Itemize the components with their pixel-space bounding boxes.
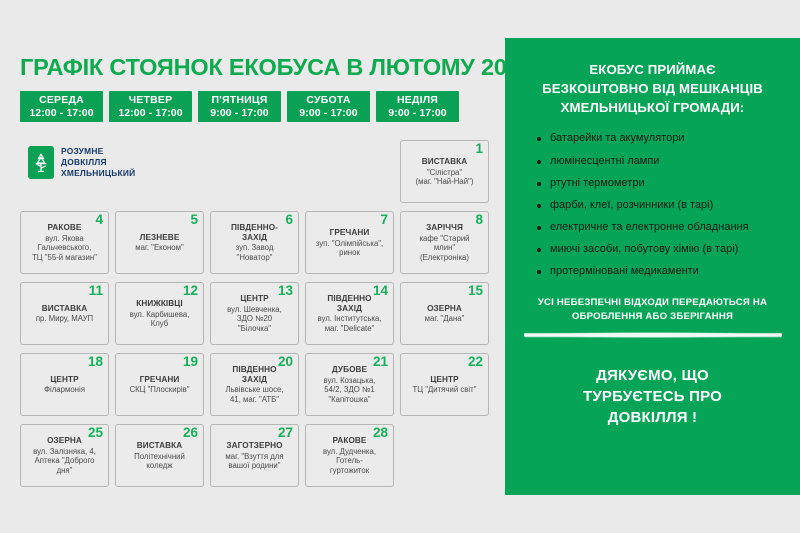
brush-divider xyxy=(524,331,782,339)
accepted-waste-item: протерміновані медикаменти xyxy=(537,264,782,280)
stop-card-cell: 6ПІВДЕННО-ЗАХІДзуп. Завод"Новатор" xyxy=(210,211,299,274)
day-header-5: НЕДІЛЯ9:00 - 17:00 xyxy=(376,91,459,122)
stop-card-place: ВИСТАВКА xyxy=(42,304,88,314)
stop-card-day-number: 28 xyxy=(373,426,388,440)
stop-card-address: вул. Залізняка, 4,Аптека "Доброгодня" xyxy=(33,447,96,476)
day-header-3: П'ЯТНИЦЯ9:00 - 17:00 xyxy=(198,91,281,122)
stop-card-address: вул. Дудченка,Готель-гуртожиток xyxy=(323,447,376,476)
empty-cell xyxy=(400,424,489,487)
accepted-waste-item: фарби, клеї, розчинники (в тарі) xyxy=(537,198,782,214)
stop-card-cell: 21ДУБОВЕвул. Козацька,54/2, ЗДО №1"Капіт… xyxy=(305,353,394,416)
stop-card[interactable]: 1ВИСТАВКА"Сілістра"(маг. "Най-Най") xyxy=(400,140,489,203)
stop-card-address: маг. "Економ" xyxy=(135,243,184,253)
stop-card-cell: 7ГРЕЧАНИзуп. "Олімпійська",ринок xyxy=(305,211,394,274)
stop-card[interactable]: 13ЦЕНТРвул. Шевченка,ЗДО №20"Білочка" xyxy=(210,282,299,345)
accepted-waste-item: миючі засоби, побутову хімію (в тарі) xyxy=(537,242,782,258)
day-header-1: СЕРЕДА12:00 - 17:00 xyxy=(20,91,103,122)
stop-card[interactable]: 12КНИЖКІВЦІвул. Карбишева,Клуб xyxy=(115,282,204,345)
stop-card[interactable]: 18ЦЕНТРФілармонія xyxy=(20,353,109,416)
day-name: СУБОТА xyxy=(306,94,350,106)
stop-card-place: ЦЕНТР xyxy=(240,294,268,304)
stop-card-day-number: 4 xyxy=(95,213,103,227)
stop-card[interactable]: 26ВИСТАВКАПолітехнічнийколедж xyxy=(115,424,204,487)
stop-card-cell: 11ВИСТАВКАпр. Миру, МАУП xyxy=(20,282,109,345)
empty-cell xyxy=(210,140,299,203)
stop-card-address: вул. ЯковаГальчевського,ТЦ "55-й магазин… xyxy=(32,234,97,263)
stop-card-day-number: 26 xyxy=(183,426,198,440)
stop-card-place: ВИСТАВКА xyxy=(422,157,468,167)
stop-card-day-number: 22 xyxy=(468,355,483,369)
stop-card-day-number: 25 xyxy=(88,426,103,440)
stop-card[interactable]: 27ЗАГОТЗЕРНОмаг. "Взуття длявашої родини… xyxy=(210,424,299,487)
stop-card[interactable]: 20ПІВДЕННОЗАХІДЛьвівське шосе,41, маг. "… xyxy=(210,353,299,416)
stop-card-cell: 22ЦЕНТРТЦ "Дитячий світ" xyxy=(400,353,489,416)
empty-cell xyxy=(115,140,204,203)
empty-cell xyxy=(305,140,394,203)
day-name: ЧЕТВЕР xyxy=(129,94,173,106)
stop-card[interactable]: 19ГРЕЧАНИСКЦ "Плоскирів" xyxy=(115,353,204,416)
stop-card-day-number: 21 xyxy=(373,355,388,369)
stop-card-address: Філармонія xyxy=(44,385,85,395)
stop-card[interactable]: 8ЗАРІЧЧЯкафе "Стариймлин"(Електроніка) xyxy=(400,211,489,274)
stop-card-cell: 13ЦЕНТРвул. Шевченка,ЗДО №20"Білочка" xyxy=(210,282,299,345)
stop-card-address: маг. "Дана" xyxy=(425,314,465,324)
stop-card-day-number: 20 xyxy=(278,355,293,369)
stop-card-address: пр. Миру, МАУП xyxy=(36,314,93,324)
stop-card-place: ОЗЕРНА xyxy=(47,436,82,446)
stop-card[interactable]: 4РАКОВЕвул. ЯковаГальчевського,ТЦ "55-й … xyxy=(20,211,109,274)
day-time: 9:00 - 17:00 xyxy=(388,107,446,119)
stop-card-place: ДУБОВЕ xyxy=(332,365,367,375)
day-time: 12:00 - 17:00 xyxy=(118,107,182,119)
stop-card-address: Львівське шосе,41, маг. "АТБ" xyxy=(225,385,283,404)
stop-card-day-number: 15 xyxy=(468,284,483,298)
accepted-waste-panel: ЕКОБУС ПРИЙМАЄБЕЗКОШТОВНО ВІД МЕШКАНЦІВХ… xyxy=(505,38,800,495)
stop-card-cell: 18ЦЕНТРФілармонія xyxy=(20,353,109,416)
day-time: 9:00 - 17:00 xyxy=(210,107,268,119)
stop-card-day-number: 14 xyxy=(373,284,388,298)
accepted-waste-list: батарейки та акумуляторилюмінесцентні ла… xyxy=(523,131,782,279)
stop-card-place: РАКОВЕ xyxy=(333,436,367,446)
stop-card-address: ТЦ "Дитячий світ" xyxy=(413,385,477,395)
stop-card-cell: 20ПІВДЕННОЗАХІДЛьвівське шосе,41, маг. "… xyxy=(210,353,299,416)
accepted-waste-item: люмінесцентні лампи xyxy=(537,154,782,170)
stop-card-place: ГРЕЧАНИ xyxy=(140,375,180,385)
stop-card[interactable]: 22ЦЕНТРТЦ "Дитячий світ" xyxy=(400,353,489,416)
stop-card-address: "Сілістра"(маг. "Най-Най") xyxy=(416,168,474,187)
stop-card[interactable]: 11ВИСТАВКАпр. Миру, МАУП xyxy=(20,282,109,345)
stop-card-cell: 1ВИСТАВКА"Сілістра"(маг. "Най-Най") xyxy=(400,140,489,203)
stop-card-place: ЦЕНТР xyxy=(430,375,458,385)
thanks-message: ДЯКУЄМО, ЩОТУРБУЄТЕСЬ ПРОДОВКІЛЛЯ ! xyxy=(523,365,782,429)
stop-card[interactable]: 28РАКОВЕвул. Дудченка,Готель-гуртожиток xyxy=(305,424,394,487)
stop-card-address: вул. Шевченка,ЗДО №20"Білочка" xyxy=(227,305,282,334)
day-name: П'ЯТНИЦЯ xyxy=(212,94,268,106)
stop-card-place: ГРЕЧАНИ xyxy=(330,228,370,238)
disposal-note: УСІ НЕБЕЗПЕЧНІ ВІДХОДИ ПЕРЕДАЮТЬСЯ НАОБР… xyxy=(527,296,778,324)
empty-cell xyxy=(20,140,109,203)
stop-card[interactable]: 6ПІВДЕННО-ЗАХІДзуп. Завод"Новатор" xyxy=(210,211,299,274)
accepted-waste-item: ртутні термометри xyxy=(537,176,782,192)
stop-card-cell: 15ОЗЕРНАмаг. "Дана" xyxy=(400,282,489,345)
stop-card-place: ЗАГОТЗЕРНО xyxy=(226,441,282,451)
stop-card-place: РАКОВЕ xyxy=(48,223,82,233)
stop-card-cell: 4РАКОВЕвул. ЯковаГальчевського,ТЦ "55-й … xyxy=(20,211,109,274)
panel-heading: ЕКОБУС ПРИЙМАЄБЕЗКОШТОВНО ВІД МЕШКАНЦІВХ… xyxy=(523,60,782,117)
stop-card-day-number: 12 xyxy=(183,284,198,298)
stop-card-address: СКЦ "Плоскирів" xyxy=(129,385,189,395)
stop-card-address: зуп. "Олімпійська",ринок xyxy=(316,239,383,258)
stop-card-place: КНИЖКІВЦІ xyxy=(136,299,183,309)
ecobus-schedule-poster: ГРАФІК СТОЯНОК ЕКОБУСА В ЛЮТОМУ 2026 СЕР… xyxy=(0,0,800,533)
stop-card[interactable]: 5ЛЕЗНЕВЕмаг. "Економ" xyxy=(115,211,204,274)
day-time: 12:00 - 17:00 xyxy=(29,107,93,119)
stop-card-day-number: 19 xyxy=(183,355,198,369)
stop-card-place: ПІВДЕННО-ЗАХІД xyxy=(231,223,278,242)
day-header-2: ЧЕТВЕР12:00 - 17:00 xyxy=(109,91,192,122)
stop-card-address: кафе "Стариймлин"(Електроніка) xyxy=(419,234,469,263)
stop-card-cell: 28РАКОВЕвул. Дудченка,Готель-гуртожиток xyxy=(305,424,394,487)
stop-card-cell: 5ЛЕЗНЕВЕмаг. "Економ" xyxy=(115,211,204,274)
stop-card-cell: 14ПІВДЕННОЗАХІДвул. Інститутська,маг. "D… xyxy=(305,282,394,345)
day-name: СЕРЕДА xyxy=(39,94,84,106)
stop-card[interactable]: 25ОЗЕРНАвул. Залізняка, 4,Аптека "Доброг… xyxy=(20,424,109,487)
stop-card[interactable]: 14ПІВДЕННОЗАХІДвул. Інститутська,маг. "D… xyxy=(305,282,394,345)
stop-card-place: ЛЕЗНЕВЕ xyxy=(140,233,180,243)
stop-card-cell: 8ЗАРІЧЧЯкафе "Стариймлин"(Електроніка) xyxy=(400,211,489,274)
stop-card-cell: 25ОЗЕРНАвул. Залізняка, 4,Аптека "Доброг… xyxy=(20,424,109,487)
stop-card-place: ЦЕНТР xyxy=(50,375,78,385)
schedule-column: ГРАФІК СТОЯНОК ЕКОБУСА В ЛЮТОМУ 2026 СЕР… xyxy=(0,0,500,533)
day-header-row: СЕРЕДА12:00 - 17:00ЧЕТВЕР12:00 - 17:00П'… xyxy=(20,91,459,122)
stop-card-day-number: 11 xyxy=(89,284,103,298)
stop-card-place: ПІВДЕННОЗАХІД xyxy=(327,294,371,313)
stop-card-day-number: 6 xyxy=(285,213,293,227)
accepted-waste-item: батарейки та акумулятори xyxy=(537,131,782,147)
stop-card-day-number: 5 xyxy=(190,213,198,227)
accepted-waste-item: електричне та електронне обладнання xyxy=(537,220,782,236)
stop-card-grid: 1ВИСТАВКА"Сілістра"(маг. "Най-Най")4РАКО… xyxy=(20,140,489,487)
stop-card-address: маг. "Взуття длявашої родини" xyxy=(225,452,283,471)
stop-card-cell: 12КНИЖКІВЦІвул. Карбишева,Клуб xyxy=(115,282,204,345)
stop-card-place: ОЗЕРНА xyxy=(427,304,462,314)
stop-card-day-number: 13 xyxy=(278,284,293,298)
stop-card-day-number: 1 xyxy=(475,142,483,156)
page-title: ГРАФІК СТОЯНОК ЕКОБУСА В ЛЮТОМУ 2026 xyxy=(20,56,490,80)
stop-card-address: вул. Карбишева,Клуб xyxy=(130,310,190,329)
stop-card-address: вул. Інститутська,маг. "Delicate" xyxy=(318,314,382,333)
stop-card-day-number: 7 xyxy=(380,213,388,227)
day-header-4: СУБОТА9:00 - 17:00 xyxy=(287,91,370,122)
day-time: 9:00 - 17:00 xyxy=(299,107,357,119)
stop-card-address: Політехнічнийколедж xyxy=(134,452,185,471)
stop-card[interactable]: 21ДУБОВЕвул. Козацька,54/2, ЗДО №1"Капіт… xyxy=(305,353,394,416)
stop-card-place: ВИСТАВКА xyxy=(137,441,183,451)
stop-card-place: ЗАРІЧЧЯ xyxy=(426,223,463,233)
stop-card-address: зуп. Завод"Новатор" xyxy=(236,243,274,262)
stop-card-cell: 26ВИСТАВКАПолітехнічнийколедж xyxy=(115,424,204,487)
stop-card-address: вул. Козацька,54/2, ЗДО №1"Капітошка" xyxy=(324,376,376,405)
stop-card-day-number: 18 xyxy=(88,355,103,369)
stop-card-cell: 19ГРЕЧАНИСКЦ "Плоскирів" xyxy=(115,353,204,416)
stop-card-day-number: 8 xyxy=(475,213,483,227)
stop-card-cell: 27ЗАГОТЗЕРНОмаг. "Взуття длявашої родини… xyxy=(210,424,299,487)
stop-card-place: ПІВДЕННОЗАХІД xyxy=(232,365,276,384)
stop-card-day-number: 27 xyxy=(278,426,293,440)
stop-card[interactable]: 15ОЗЕРНАмаг. "Дана" xyxy=(400,282,489,345)
day-name: НЕДІЛЯ xyxy=(397,94,438,106)
stop-card[interactable]: 7ГРЕЧАНИзуп. "Олімпійська",ринок xyxy=(305,211,394,274)
